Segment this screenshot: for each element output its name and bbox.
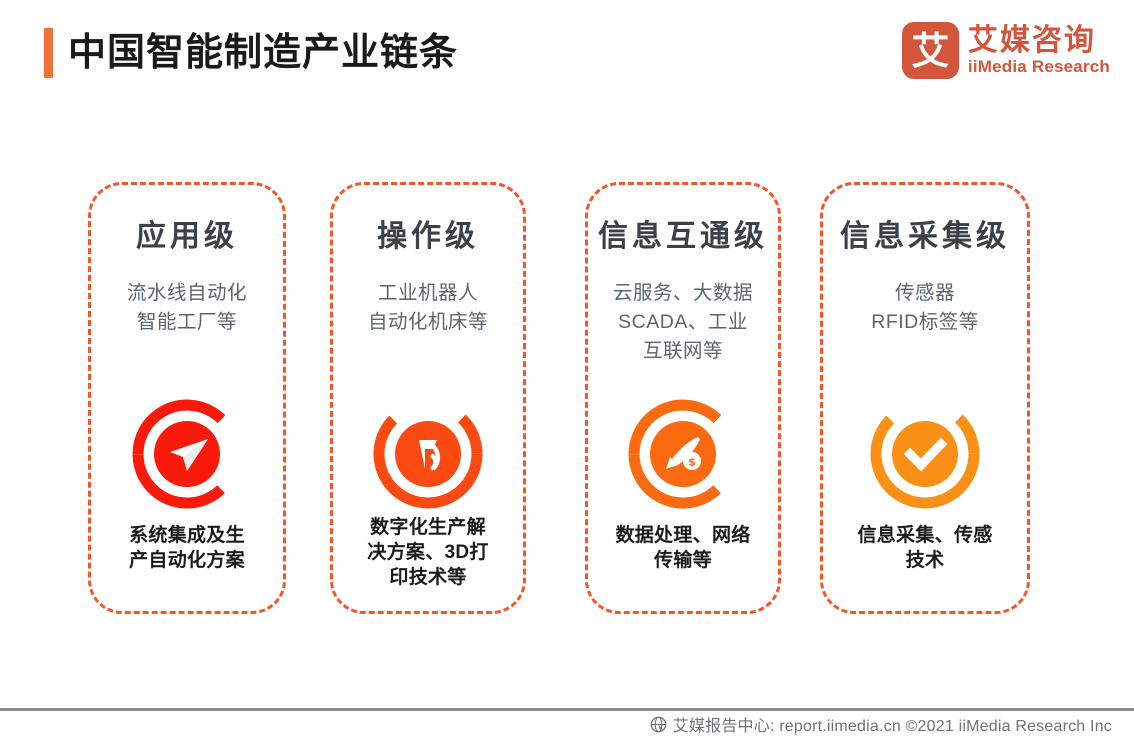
card-subtitle: 传感器 RFID标签等 (871, 279, 979, 337)
card-subtitle: 云服务、大数据 SCADA、工业 互联网等 (613, 279, 753, 366)
paper-plane-icon (132, 399, 242, 509)
logo-name-cn: 艾媒咨询 (968, 24, 1110, 57)
svg-text:$: $ (688, 456, 696, 469)
card-subtitle: 工业机器人 自动化机床等 (368, 279, 488, 337)
logo-text: 艾媒咨询 iiMedia Research (968, 24, 1110, 77)
globe-icon (650, 716, 667, 733)
header: 中国智能制造产业链条 艾 艾媒咨询 iiMedia Research (0, 0, 1134, 110)
card-heading: 信息互通级 (598, 217, 768, 257)
logo-mark-icon: 艾 (902, 22, 959, 79)
footer: 艾媒报告中心: report.iimedia.cn ©2021 iiMedia … (0, 712, 1134, 736)
chain-card-acquisition[interactable]: 信息采集级 传感器 RFID标签等 信息采集、传感 技术 (820, 182, 1030, 614)
signal-wave-icon (373, 399, 483, 509)
brand-logo: 艾 艾媒咨询 iiMedia Research (902, 22, 1110, 79)
chain-card-application[interactable]: 应用级 流水线自动化 智能工厂等 系统集成及生 产自动化方案 (88, 182, 286, 614)
value-chain-cards: 应用级 流水线自动化 智能工厂等 系统集成及生 产自动化方案 操作级 工业机器人… (0, 182, 1134, 614)
card-heading: 应用级 (136, 217, 238, 257)
logo-name-en: iiMedia Research (968, 57, 1110, 77)
card-footer-text: 信息采集、传感 技术 (805, 523, 1045, 573)
check-circle-icon (870, 399, 980, 509)
page-title: 中国智能制造产业链条 (68, 26, 458, 80)
card-subtitle: 流水线自动化 智能工厂等 (127, 279, 247, 337)
card-heading: 操作级 (377, 217, 479, 257)
card-footer-text: 系统集成及生 产自动化方案 (73, 523, 301, 573)
chain-card-interconnection[interactable]: 信息互通级 云服务、大数据 SCADA、工业 互联网等 $ 数据处理、网络 传输… (585, 182, 781, 614)
rocket-money-icon: $ (628, 399, 738, 509)
footer-text: 艾媒报告中心: report.iimedia.cn ©2021 iiMedia … (673, 712, 1112, 736)
card-heading: 信息采集级 (840, 217, 1010, 257)
title-accent-bar (44, 28, 53, 78)
card-footer-text: 数字化生产解 决方案、3D打 印技术等 (315, 515, 541, 590)
chain-card-operation[interactable]: 操作级 工业机器人 自动化机床等 数字化生产解 决方案、3D打 印技术等 (330, 182, 526, 614)
footer-divider (0, 708, 1134, 711)
card-footer-text: 数据处理、网络 传输等 (570, 523, 796, 573)
infographic-page: 中国智能制造产业链条 艾 艾媒咨询 iiMedia Research 应用级 流… (0, 0, 1134, 737)
